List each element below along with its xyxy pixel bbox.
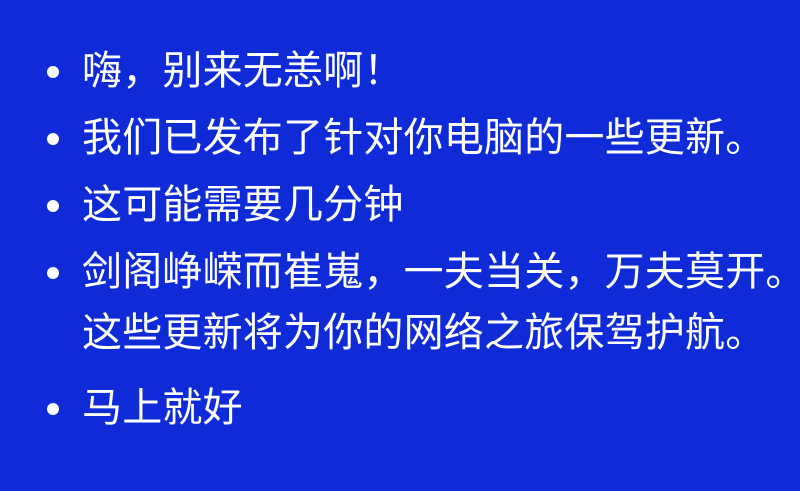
bullet-dot-icon xyxy=(47,133,59,145)
update-message-list: 嗨，别来无恙啊！ 我们已发布了针对你电脑的一些更新。 这可能需要几分钟 剑阁峥嵘… xyxy=(0,38,800,442)
list-item: 我们已发布了针对你电脑的一些更新。 xyxy=(0,105,800,172)
bullet-dot-icon xyxy=(47,200,59,212)
list-item-text: 这可能需要几分钟 xyxy=(82,172,404,239)
list-item: 嗨，别来无恙啊！ xyxy=(0,38,800,105)
bullet-dot-icon xyxy=(47,66,59,78)
bullet-dot-icon xyxy=(47,267,59,279)
list-item: 马上就好 xyxy=(0,375,800,442)
list-item-text: 我们已发布了针对你电脑的一些更新。 xyxy=(82,105,765,172)
list-item: 这可能需要几分钟 xyxy=(0,172,800,239)
list-item-text: 剑阁峥嵘而崔嵬，一夫当关，万夫莫开。 xyxy=(82,239,800,306)
list-item-continuation: 这些更新将为你的网络之旅保驾护航。 xyxy=(0,300,800,367)
list-item-text: 马上就好 xyxy=(82,375,243,442)
list-item-text: 嗨，别来无恙啊！ xyxy=(82,38,404,105)
bullet-dot-icon xyxy=(47,403,59,415)
list-item-text: 这些更新将为你的网络之旅保驾护航。 xyxy=(82,300,765,367)
list-item: 剑阁峥嵘而崔嵬，一夫当关，万夫莫开。 xyxy=(0,239,800,306)
update-screen: 嗨，别来无恙啊！ 我们已发布了针对你电脑的一些更新。 这可能需要几分钟 剑阁峥嵘… xyxy=(0,0,800,491)
